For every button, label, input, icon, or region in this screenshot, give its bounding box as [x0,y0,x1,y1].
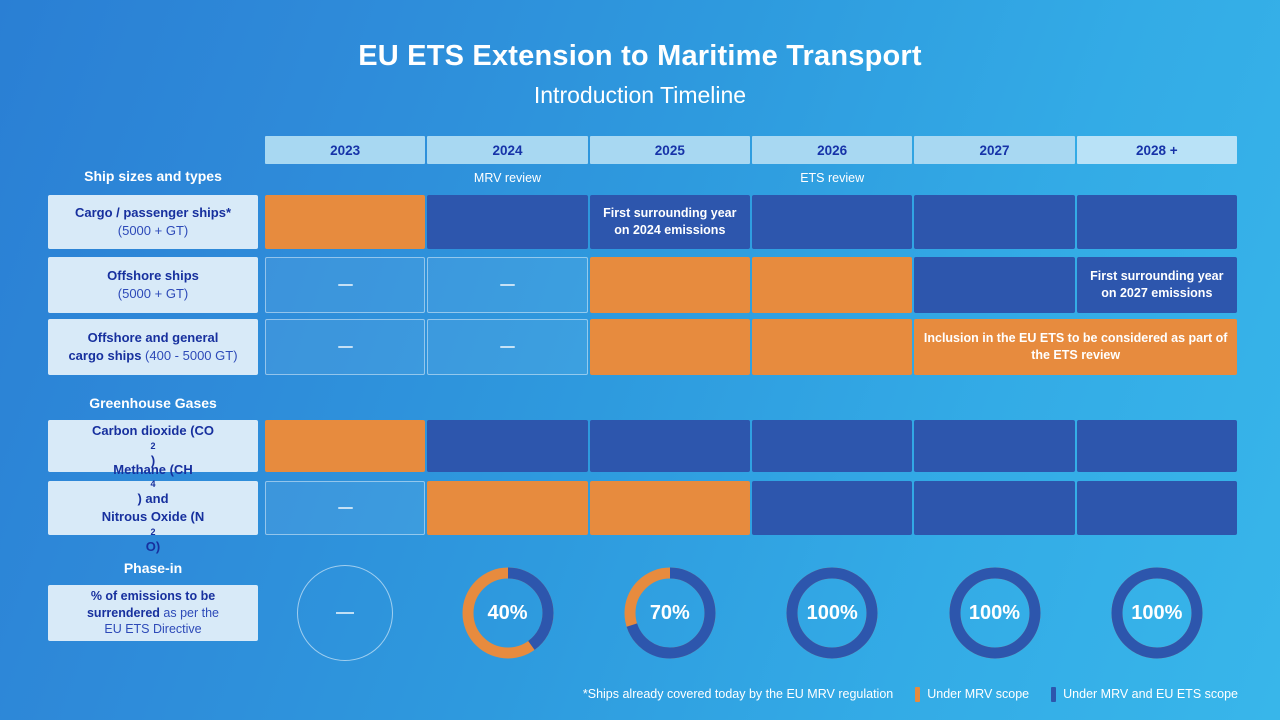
row-label-ship-2: Offshore and generalcargo ships (400 - 5… [48,319,258,375]
ghg-row-0-cell-2 [590,420,750,472]
legend-label-mrv: Under MRV scope [927,687,1029,701]
phase-in-donut-2028: 100% [1109,565,1205,661]
ship-row-0-cell-4 [914,195,1074,249]
ship-row-0-cell-5 [1077,195,1237,249]
ghg-row-0-cell-1 [427,420,587,472]
row-label-main: Offshore ships [107,267,199,285]
ghg-row-1-cell-4 [914,481,1074,535]
ship-row-1-cell-5: First surrounding year on 2027 emissions [1077,257,1237,313]
year-header-2025: 2025 [590,136,750,164]
review-slot-empty [265,169,425,187]
year-header-2028: 2028 + [1077,136,1237,164]
review-slot-empty [1077,169,1237,187]
row-label-main: Offshore and general [88,329,219,347]
year-header-2024: 2024 [427,136,587,164]
section-caption-phase-in: Phase-in [48,560,258,576]
ship-row-1-cell-2 [590,257,750,313]
legend-item-mrv-ets: Under MRV and EU ETS scope [1051,687,1238,702]
section-caption-greenhouse-gases: Greenhouse Gases [48,395,258,411]
page-subtitle: Introduction Timeline [0,82,1280,109]
review-label-mrv: MRV review [427,169,587,187]
ship-row-0-cell-2: First surrounding year on 2024 emissions [590,195,750,249]
footnote-text: *Ships already covered today by the EU M… [583,687,893,701]
footer-legend: *Ships already covered today by the EU M… [0,682,1280,706]
phase-in-value: 100% [784,565,880,661]
not-applicable-dash-icon [500,346,515,348]
ship-row-1-cell-4 [914,257,1074,313]
phase-in-donut-2023 [297,565,393,661]
ghg-row-1-cell-5 [1077,481,1237,535]
ship-row-1-cell-1 [427,257,587,313]
not-applicable-dash-icon [338,284,353,286]
ship-row-0-cell-3 [752,195,912,249]
not-applicable-dash-icon [500,284,515,286]
ship-row-1-cell-0 [265,257,425,313]
legend-item-mrv: Under MRV scope [915,687,1029,702]
review-slot-empty [914,169,1074,187]
ghg-row-0-cell-0 [265,420,425,472]
ghg-row-1-cell-0 [265,481,425,535]
row-label-sub: (5000 + GT) [118,222,188,240]
phase-in-value: 100% [947,565,1043,661]
ghg-row-0-cell-3 [752,420,912,472]
phase-in-donut-2024: 40% [460,565,556,661]
ghg-row-1-cell-2 [590,481,750,535]
row-label-main: Cargo / passenger ships* [75,204,231,222]
ship-row-2-cell-3 [752,319,912,375]
ship-row-0-cell-0 [265,195,425,249]
row-label-ship-0: Cargo / passenger ships*(5000 + GT) [48,195,258,249]
year-header-2023: 2023 [265,136,425,164]
phase-in-value: 100% [1109,565,1205,661]
row-label-sub: cargo ships (400 - 5000 GT) [68,347,237,365]
not-applicable-dash-icon [338,346,353,348]
ship-row-2-cell-4: Inclusion in the EU ETS to be considered… [914,319,1237,375]
ship-row-2-cell-2 [590,319,750,375]
year-header-2026: 2026 [752,136,912,164]
ship-row-2-cell-0 [265,319,425,375]
page-title: EU ETS Extension to Maritime Transport [0,40,1280,73]
ghg-row-1-cell-3 [752,481,912,535]
legend-swatch-mrv-ets-icon [1051,687,1056,702]
ship-row-0-cell-1 [427,195,587,249]
review-label-ets: ETS review [752,169,912,187]
ghg-row-0-cell-5 [1077,420,1237,472]
row-label-ship-1: Offshore ships(5000 + GT) [48,257,258,313]
legend-label-mrv-ets: Under MRV and EU ETS scope [1063,687,1238,701]
year-header-2027: 2027 [914,136,1074,164]
year-header-row: 202320242025202620272028 + [265,136,1237,164]
ghg-row-1-cell-1 [427,481,587,535]
infographic-canvas: EU ETS Extension to Maritime Transport I… [0,0,1280,720]
legend-swatch-mrv-icon [915,687,920,702]
ghg-row-0-cell-4 [914,420,1074,472]
section-caption-ship-sizes: Ship sizes and types [48,168,258,184]
review-slot-empty [590,169,750,187]
ship-row-1-cell-3 [752,257,912,313]
row-label-phase-in: % of emissions to besurrendered as per t… [48,585,258,641]
phase-in-donut-2025: 70% [622,565,718,661]
phase-in-donut-2027: 100% [947,565,1043,661]
row-label-sub: (5000 + GT) [118,285,188,303]
not-applicable-dash-icon [336,612,354,614]
not-applicable-dash-icon [338,507,353,509]
phase-in-value: 70% [622,565,718,661]
phase-in-value: 40% [460,565,556,661]
ship-row-2-cell-1 [427,319,587,375]
row-label-ghg-1: Methane (CH4) andNitrous Oxide (N2O) [48,481,258,535]
review-band: MRV reviewETS review [265,169,1237,187]
phase-in-donut-2026: 100% [784,565,880,661]
